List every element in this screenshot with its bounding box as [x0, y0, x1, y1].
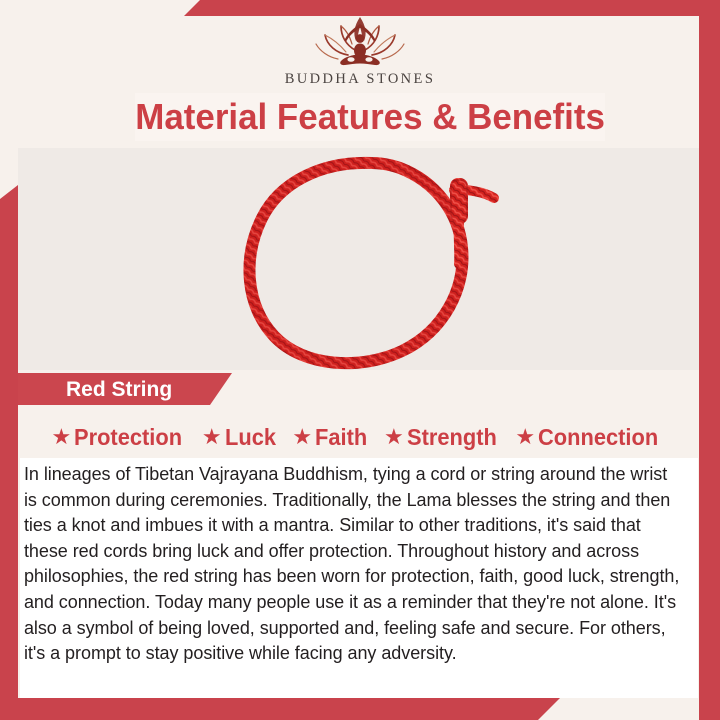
benefit-label: Connection	[538, 426, 658, 449]
star-icon: ★	[292, 426, 312, 448]
brand-logo-block: BUDDHA STONES	[0, 14, 720, 94]
star-icon: ★	[202, 426, 222, 448]
product-label: Red String	[66, 379, 172, 400]
product-infographic: BUDDHA STONES Material Features & Benefi…	[0, 0, 720, 720]
benefit-item-strength: ★ Strength	[377, 426, 508, 449]
benefit-item-protection: ★ Protection	[44, 426, 194, 449]
left-accent-bar	[0, 185, 18, 720]
page-title: Material Features & Benefits	[135, 99, 605, 135]
benefit-label: Protection	[74, 426, 182, 449]
bracelet-adjustable-knot	[450, 178, 494, 264]
red-braided-string-bracelet-image	[222, 156, 512, 370]
right-accent-bar	[699, 16, 720, 720]
star-icon: ★	[51, 426, 71, 448]
product-label-band: Red String	[18, 373, 232, 405]
page-title-band: Material Features & Benefits	[135, 93, 605, 141]
benefit-label: Faith	[315, 426, 367, 449]
lotus-meditation-icon	[308, 14, 412, 70]
description-card: In lineages of Tibetan Vajrayana Buddhis…	[20, 458, 698, 698]
benefit-label: Strength	[407, 426, 497, 449]
benefit-label: Luck	[225, 426, 276, 449]
benefit-item-connection: ★ Connection	[508, 426, 671, 449]
star-icon: ★	[384, 426, 404, 448]
description-paragraph: In lineages of Tibetan Vajrayana Buddhis…	[20, 458, 688, 666]
bottom-accent-band	[0, 698, 560, 720]
star-icon: ★	[515, 426, 535, 448]
benefit-item-faith: ★ Faith	[285, 426, 377, 449]
brand-wordmark: BUDDHA STONES	[285, 71, 436, 88]
benefits-row: ★ Protection ★ Luck ★ Faith ★ Strength ★…	[20, 421, 696, 453]
product-photo	[18, 148, 699, 370]
benefit-item-luck: ★ Luck	[195, 426, 285, 449]
